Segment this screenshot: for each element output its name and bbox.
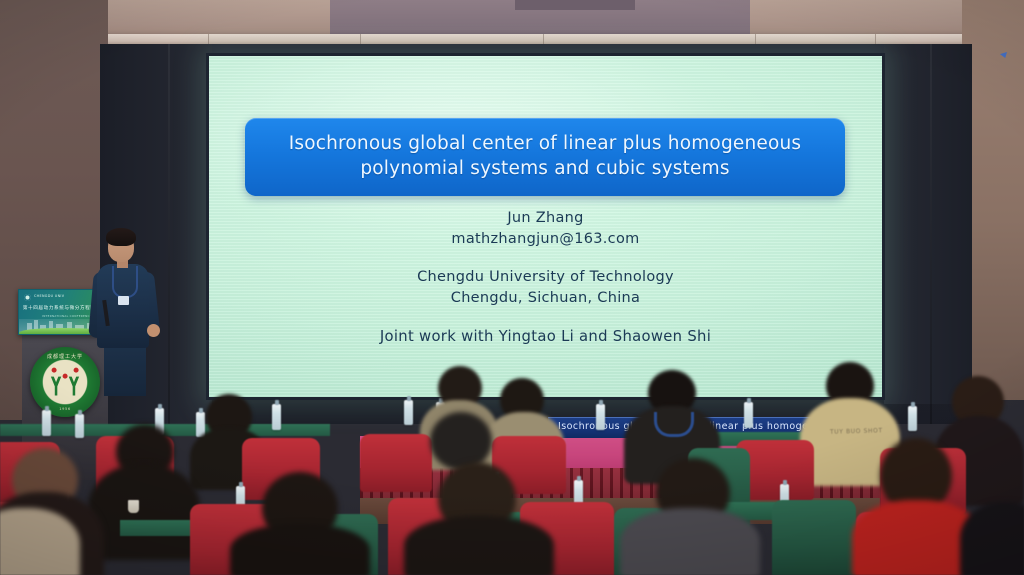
slide-title-line-1: Isochronous global center of linear plus… <box>261 131 829 156</box>
slide-author-email: mathzhangjun@163.com <box>209 229 882 250</box>
conference-logo-icon <box>24 294 31 301</box>
attendee-shirt-text: TUY BUO SHOT <box>830 427 883 435</box>
chair <box>360 434 432 492</box>
attendee-body <box>404 516 554 575</box>
presentation-slide: Isochronous global center of linear plus… <box>209 56 882 397</box>
attendee-body <box>620 508 760 575</box>
slide-body: Jun Zhang mathzhangjun@163.com Chengdu U… <box>209 208 882 347</box>
slide-author-block: Jun Zhang mathzhangjun@163.com <box>209 208 882 250</box>
water-bottle <box>75 414 84 438</box>
projection-screen: Isochronous global center of linear plus… <box>209 56 882 397</box>
attendee-body <box>230 524 370 575</box>
slide-joint-work: Joint work with Yingtao Li and Shaowen S… <box>209 326 882 347</box>
water-bottle <box>744 402 753 428</box>
water-bottle <box>272 404 281 430</box>
slide-jointwork-block: Joint work with Yingtao Li and Shaowen S… <box>209 326 882 347</box>
slide-affiliation: Chengdu University of Technology <box>209 267 882 288</box>
conference-logo-text: CHENGDU UNIV <box>34 294 64 298</box>
speaker-badge <box>118 296 129 305</box>
slide-affiliation-block: Chengdu University of Technology Chengdu… <box>209 267 882 309</box>
water-bottle <box>42 410 51 436</box>
ceiling-peak <box>515 0 635 10</box>
water-bottle <box>404 400 413 425</box>
chair <box>772 500 856 575</box>
paper-cup <box>128 500 139 513</box>
speaker-lanyard <box>112 266 138 298</box>
water-bottle <box>908 406 917 431</box>
attendee-lanyard <box>654 412 694 437</box>
slide-author-name: Jun Zhang <box>209 208 882 229</box>
attendee-body <box>88 464 200 560</box>
conference-hall-photo: Isochronous global center of linear plus… <box>0 0 1024 575</box>
water-bottle <box>596 404 605 430</box>
slide-location: Chengdu, Sichuan, China <box>209 288 882 309</box>
slide-title-line-2: polynomial systems and cubic systems <box>261 156 829 181</box>
attendee-head <box>430 412 492 470</box>
slide-title-banner: Isochronous global center of linear plus… <box>245 118 845 196</box>
curtain-right-panel <box>884 44 972 404</box>
speaker-hair <box>106 228 136 246</box>
attendee-body <box>960 502 1024 575</box>
audience-area: TUY BUO SHOT <box>0 352 1024 575</box>
speaker-hand <box>147 324 160 337</box>
